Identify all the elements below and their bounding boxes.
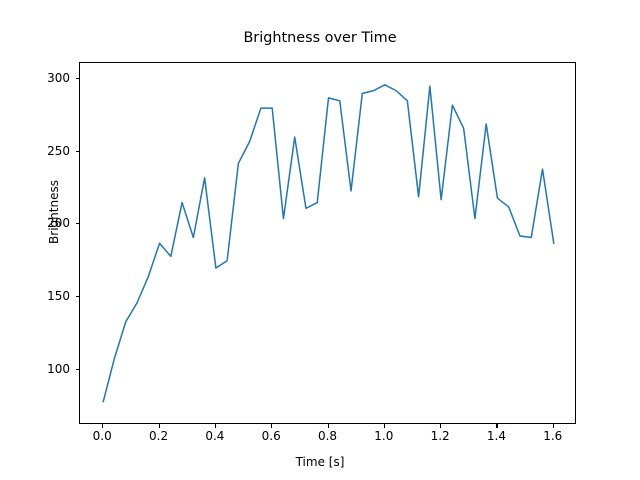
y-tick-label: 200 — [10, 216, 70, 230]
x-tick-label: 1.6 — [523, 429, 583, 443]
y-tick-label: 150 — [10, 289, 70, 303]
matplotlib-figure: Brightness over Time Brightness Time [s]… — [0, 0, 640, 480]
x-tick-label: 0.4 — [185, 429, 245, 443]
x-tick-label: 0.2 — [129, 429, 189, 443]
line-chart-svg — [80, 63, 577, 425]
x-tick-label: 0.6 — [241, 429, 301, 443]
x-tick-label: 1.4 — [466, 429, 526, 443]
y-tick-label: 300 — [10, 71, 70, 85]
y-tick-label: 100 — [10, 362, 70, 376]
x-tick-label: 1.0 — [354, 429, 414, 443]
y-tick-label: 250 — [10, 144, 70, 158]
x-tick-label: 0.8 — [298, 429, 358, 443]
x-tick-label: 0.0 — [72, 429, 132, 443]
x-axis-label: Time [s] — [0, 455, 640, 469]
page-title: Brightness over Time — [0, 30, 640, 47]
plot-area — [79, 62, 576, 424]
x-tick-label: 1.2 — [410, 429, 470, 443]
y-axis-label: Brightness — [47, 152, 61, 272]
brightness-line-series — [103, 85, 554, 402]
